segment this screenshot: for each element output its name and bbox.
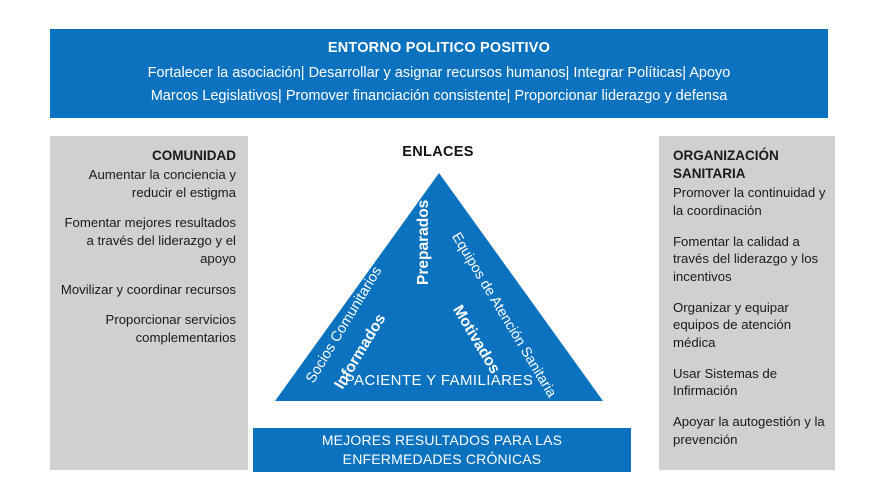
diagram-canvas: ENTORNO POLITICO POSITIVO Fortalecer la … — [0, 0, 885, 498]
community-panel-item: Movilizar y coordinar recursos — [56, 281, 236, 299]
health-organization-panel: ORGANIZACIÓN SANITARIA Promover la conti… — [659, 136, 835, 470]
triangle-label-preparados: Preparados — [415, 200, 433, 285]
policy-banner-line-2: Marcos Legislativos| Promover financiaci… — [151, 85, 728, 108]
health-organization-panel-item: Promover la continuidad y la coordinació… — [673, 184, 829, 219]
outcomes-banner: MEJORES RESULTADOS PARA LAS ENFERMEDADES… — [253, 428, 631, 472]
triangle-label-paciente-y-familiares: PACIENTE Y FAMILIARES — [268, 372, 610, 389]
policy-environment-banner: ENTORNO POLITICO POSITIVO Fortalecer la … — [50, 29, 828, 118]
community-panel-item: Proporcionar servicios complementarios — [56, 311, 236, 346]
health-organization-panel-heading: ORGANIZACIÓN SANITARIA — [673, 147, 829, 183]
community-panel-item: Aumentar la conciencia y reducir el esti… — [56, 166, 236, 201]
community-panel-item: Fomentar mejores resultados a través del… — [56, 214, 236, 267]
health-organization-panel-item: Apoyar la autogestión y la prevención — [673, 413, 829, 448]
community-panel: COMUNIDAD Aumentar la conciencia y reduc… — [50, 136, 248, 470]
health-organization-panel-item: Organizar y equipar equipos de atención … — [673, 299, 829, 352]
community-panel-heading: COMUNIDAD — [56, 147, 236, 165]
central-triangle: Socios Comunitarios Informados Preparado… — [268, 168, 610, 406]
health-organization-panel-item: Usar Sistemas de Infirmación — [673, 365, 829, 400]
policy-banner-title: ENTORNO POLITICO POSITIVO — [328, 38, 550, 60]
policy-banner-line-1: Fortalecer la asociación| Desarrollar y … — [148, 62, 731, 85]
health-organization-panel-item: Fomentar la calidad a través del lideraz… — [673, 233, 829, 286]
enlaces-label: ENLACES — [355, 144, 521, 160]
